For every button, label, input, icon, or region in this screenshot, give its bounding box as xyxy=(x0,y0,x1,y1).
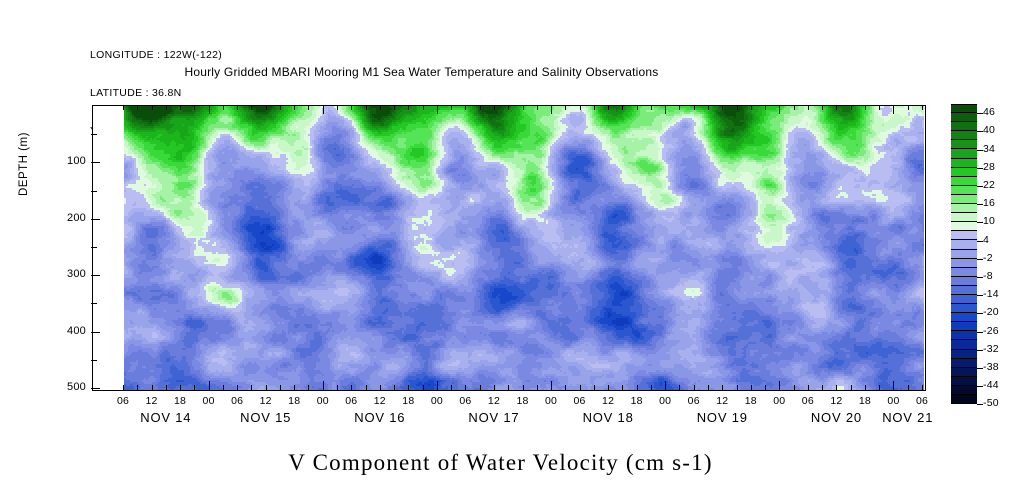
colorbar-tick-label: 16 xyxy=(983,197,995,209)
x-hour-label: 00 xyxy=(422,395,452,407)
x-hour-label: 06 xyxy=(793,395,823,407)
colorbar-tick-label: 22 xyxy=(983,179,995,191)
y-tick-label: 400 xyxy=(46,325,86,337)
y-tick-label: 300 xyxy=(46,268,86,280)
x-hour-label: 18 xyxy=(393,395,423,407)
x-hour-label: 06 xyxy=(565,395,595,407)
colorbar-band xyxy=(951,104,977,113)
colorbar-band xyxy=(951,222,977,231)
chart-title-text: Hourly Gridded MBARI Mooring M1 Sea Wate… xyxy=(185,65,659,79)
colorbar-band xyxy=(951,313,977,322)
colorbar-band xyxy=(951,340,977,349)
colorbar-band xyxy=(951,131,977,140)
colorbar-band xyxy=(951,304,977,313)
x-hour-label: 06 xyxy=(336,395,366,407)
colorbar-band xyxy=(951,159,977,168)
colorbar-band xyxy=(951,186,977,195)
x-hour-label: 06 xyxy=(679,395,709,407)
colorbar-band xyxy=(951,331,977,340)
x-hour-label: 06 xyxy=(222,395,252,407)
colorbar-tick-label: -26 xyxy=(983,325,999,337)
plot-frame xyxy=(92,105,926,391)
x-date-label: NOV 14 xyxy=(111,410,221,425)
colorbar-tick-label: 10 xyxy=(983,215,995,227)
colorbar-band xyxy=(951,259,977,268)
x-hour-label: 12 xyxy=(707,395,737,407)
y-tick-label: 200 xyxy=(46,212,86,224)
x-date-label: NOV 19 xyxy=(667,410,777,425)
x-hour-label: 06 xyxy=(907,395,937,407)
colorbar-band xyxy=(951,122,977,131)
x-hour-label: 00 xyxy=(878,395,908,407)
x-date-label: NOV 21 xyxy=(853,410,963,425)
x-hour-label: 06 xyxy=(108,395,138,407)
x-date-label: NOV 18 xyxy=(553,410,663,425)
colorbar-tick-label: -44 xyxy=(983,379,999,391)
y-axis-title: DEPTH (m) xyxy=(18,132,30,196)
x-hour-label: 12 xyxy=(251,395,281,407)
x-date-label: NOV 15 xyxy=(211,410,321,425)
x-hour-label: 18 xyxy=(736,395,766,407)
colorbar-band xyxy=(951,149,977,158)
colorbar-band xyxy=(951,168,977,177)
colorbar-tick-label: 28 xyxy=(983,161,995,173)
colorbar-band xyxy=(951,113,977,122)
heatmap-field xyxy=(124,106,924,390)
chart-title: Hourly Gridded MBARI Mooring M1 Sea Wate… xyxy=(0,65,1009,79)
colorbar-tick-label: 46 xyxy=(983,106,995,118)
x-hour-label: 18 xyxy=(279,395,309,407)
x-date-label: NOV 17 xyxy=(439,410,549,425)
colorbar-tick-label: -32 xyxy=(983,343,999,355)
x-hour-label: 18 xyxy=(850,395,880,407)
x-hour-label: 18 xyxy=(622,395,652,407)
colorbar-tick-label: -2 xyxy=(983,252,993,264)
colorbar-band xyxy=(951,140,977,149)
x-hour-label: 00 xyxy=(308,395,338,407)
colorbar-band xyxy=(951,386,977,395)
x-hour-label: 00 xyxy=(194,395,224,407)
x-hour-label: 00 xyxy=(764,395,794,407)
colorbar-band xyxy=(951,213,977,222)
x-hour-label: 12 xyxy=(821,395,851,407)
y-tick-label: 100 xyxy=(46,155,86,167)
colorbar-band xyxy=(951,277,977,286)
x-hour-label: 18 xyxy=(165,395,195,407)
x-hour-label: 18 xyxy=(508,395,538,407)
figure-caption: V Component of Water Velocity (cm s-1) xyxy=(0,450,1009,476)
colorbar-band xyxy=(951,240,977,249)
colorbar-band xyxy=(951,177,977,186)
y-tick-label: 500 xyxy=(46,381,86,393)
x-hour-label: 12 xyxy=(365,395,395,407)
colorbar-band xyxy=(951,286,977,295)
colorbar-band xyxy=(951,250,977,259)
x-hour-label: 00 xyxy=(536,395,566,407)
colorbar-tick-label: -14 xyxy=(983,288,999,300)
figure-caption-text: V Component of Water Velocity (cm s-1) xyxy=(288,450,712,475)
colorbar-tick-label: 4 xyxy=(983,234,989,246)
colorbar-tick-label: -50 xyxy=(983,397,999,409)
x-date-label: NOV 16 xyxy=(325,410,435,425)
x-hour-label: 12 xyxy=(137,395,167,407)
colorbar-band xyxy=(951,322,977,331)
latitude-text: LATITUDE : 36.8N xyxy=(90,87,222,100)
colorbar-band xyxy=(951,204,977,213)
longitude-text: LONGITUDE : 122W(-122) xyxy=(90,49,222,62)
x-hour-label: 12 xyxy=(479,395,509,407)
colorbar-tick-label: -20 xyxy=(983,306,999,318)
colorbar-tick-label: -8 xyxy=(983,270,993,282)
colorbar-band xyxy=(951,268,977,277)
colorbar xyxy=(951,104,977,404)
colorbar-tick-label: 40 xyxy=(983,124,995,136)
colorbar-band xyxy=(951,231,977,240)
colorbar-tick-label: -38 xyxy=(983,361,999,373)
colorbar-band xyxy=(951,395,977,404)
colorbar-band xyxy=(951,359,977,368)
colorbar-tick-label: 34 xyxy=(983,143,995,155)
colorbar-band xyxy=(951,350,977,359)
x-hour-label: 12 xyxy=(593,395,623,407)
colorbar-band xyxy=(951,295,977,304)
colorbar-band xyxy=(951,195,977,204)
colorbar-band xyxy=(951,368,977,377)
colorbar-band xyxy=(951,377,977,386)
x-hour-label: 06 xyxy=(450,395,480,407)
x-hour-label: 00 xyxy=(650,395,680,407)
